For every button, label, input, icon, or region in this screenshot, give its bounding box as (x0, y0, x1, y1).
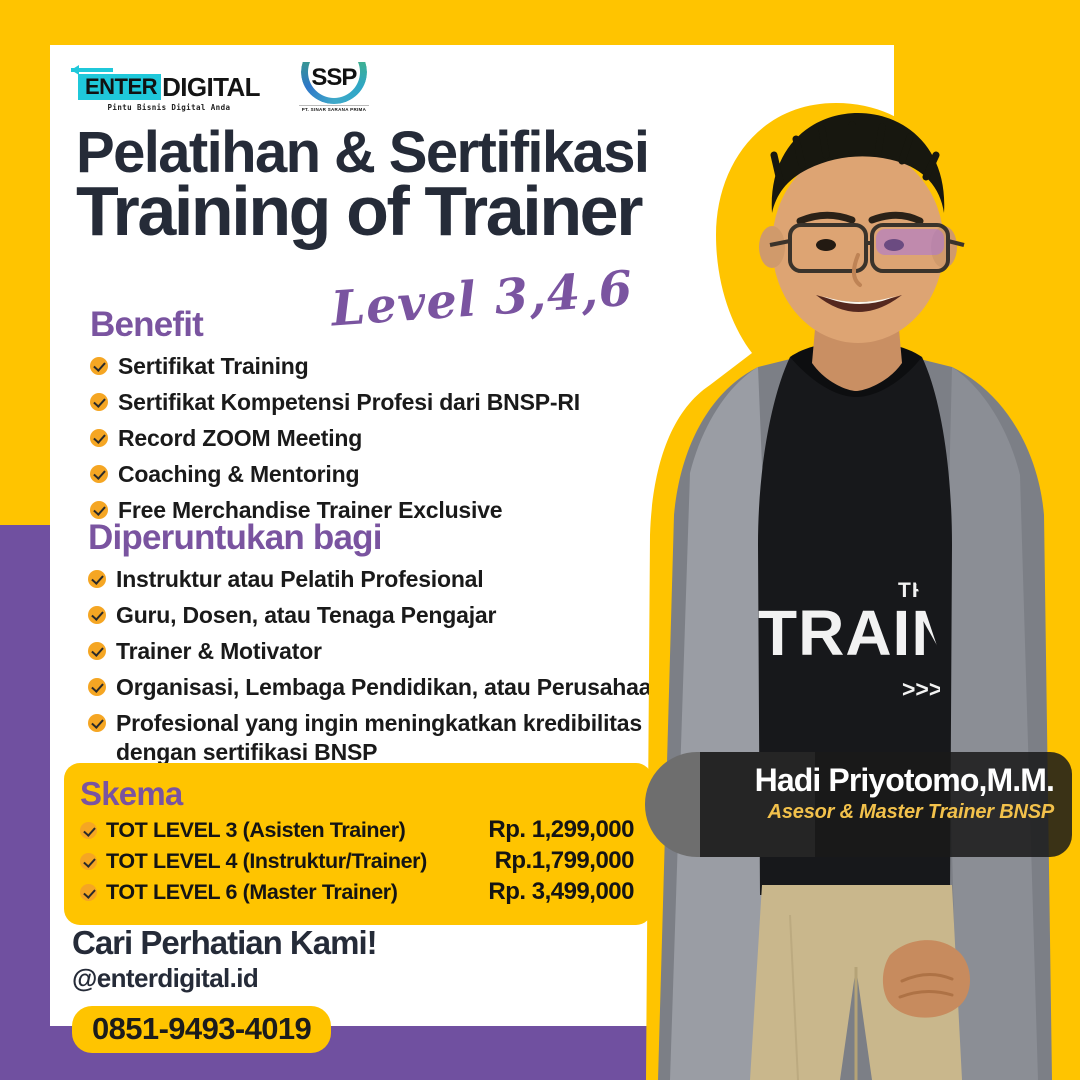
target-item-label: Instruktur atau Pelatih Profesional (116, 565, 483, 594)
skema-level-label: TOT LEVEL 3 (Asisten Trainer) (106, 818, 438, 843)
target-item-label: Guru, Dosen, atau Tenaga Pengajar (116, 601, 496, 630)
check-circle-icon (88, 678, 106, 696)
enter-digital-wordmark: ENTER DIGITAL (78, 74, 260, 100)
target-item-label: Profesional yang ingin meningkatkan kred… (116, 709, 676, 767)
digital-word: DIGITAL (162, 74, 260, 100)
presenter-photo: TRAINER TRAINING O >>> lv. 3 (640, 95, 1080, 1080)
benefit-item-label: Coaching & Mentoring (118, 460, 359, 489)
skema-level-label: TOT LEVEL 4 (Instruktur/Trainer) (106, 849, 438, 874)
check-circle-icon (88, 642, 106, 660)
target-title: Diperuntukan bagi (88, 520, 676, 555)
list-item: Sertifikat Training (90, 352, 580, 381)
check-circle-icon (80, 822, 97, 839)
check-circle-icon (88, 606, 106, 624)
poster-canvas: ENTER DIGITAL Pintu Bisnis Digital Anda … (0, 0, 1080, 1080)
skema-price: Rp. 3,499,000 (438, 878, 634, 906)
list-item: Trainer & Motivator (88, 637, 676, 666)
list-item: Profesional yang ingin meningkatkan kred… (88, 709, 676, 767)
ssp-company-name: PT. SINAR SARANA PRIMA (299, 105, 369, 112)
presenter-nameplate: Hadi Priyotomo,M.M. Asesor & Master Trai… (700, 752, 1072, 857)
check-circle-icon (90, 393, 108, 411)
benefit-title: Benefit (90, 307, 580, 342)
enter-digital-tagline: Pintu Bisnis Digital Anda (108, 103, 231, 112)
target-audience-section: Diperuntukan bagi Instruktur atau Pelati… (88, 520, 676, 774)
enter-badge: ENTER (78, 74, 161, 99)
list-item: Sertifikat Kompetensi Profesi dari BNSP-… (90, 388, 580, 417)
check-circle-icon (88, 714, 106, 732)
skema-title: Skema (80, 777, 634, 810)
table-row: TOT LEVEL 3 (Asisten Trainer) Rp. 1,299,… (80, 816, 634, 844)
presenter-name: Hadi Priyotomo,M.M. (700, 764, 1054, 798)
check-circle-icon (90, 357, 108, 375)
skema-level-label: TOT LEVEL 6 (Master Trainer) (106, 880, 438, 905)
check-circle-icon (80, 853, 97, 870)
ssp-wordmark: SSP (301, 64, 367, 92)
purple-left-band (0, 525, 50, 1080)
skema-panel: Skema TOT LEVEL 3 (Asisten Trainer) Rp. … (64, 763, 652, 925)
contact-section: Cari Perhatian Kami! @enterdigital.id 08… (72, 925, 377, 1053)
check-circle-icon (90, 429, 108, 447)
skema-price: Rp.1,799,000 (438, 847, 634, 875)
table-row: TOT LEVEL 6 (Master Trainer) Rp. 3,499,0… (80, 878, 634, 906)
target-item-label: Organisasi, Lembaga Pendidikan, atau Per… (116, 673, 665, 702)
table-row: TOT LEVEL 4 (Instruktur/Trainer) Rp.1,79… (80, 847, 634, 875)
logo-row: ENTER DIGITAL Pintu Bisnis Digital Anda … (78, 62, 374, 112)
benefit-item-label: Record ZOOM Meeting (118, 424, 362, 453)
check-circle-icon (90, 465, 108, 483)
list-item: Record ZOOM Meeting (90, 424, 580, 453)
check-circle-icon (90, 501, 108, 519)
target-list: Instruktur atau Pelatih Profesional Guru… (88, 565, 676, 767)
presenter-role: Asesor & Master Trainer BNSP (700, 801, 1054, 824)
ssp-logo: SSP PT. SINAR SARANA PRIMA (294, 62, 374, 112)
list-item: Guru, Dosen, atau Tenaga Pengajar (88, 601, 676, 630)
benefit-section: Benefit Sertifikat Training Sertifikat K… (90, 307, 580, 532)
list-item: Organisasi, Lembaga Pendidikan, atau Per… (88, 673, 676, 702)
benefit-list: Sertifikat Training Sertifikat Kompetens… (90, 352, 580, 525)
contact-heading: Cari Perhatian Kami! (72, 925, 377, 961)
enter-digital-logo: ENTER DIGITAL Pintu Bisnis Digital Anda (78, 74, 260, 112)
benefit-item-label: Sertifikat Training (118, 352, 308, 381)
skema-price: Rp. 1,299,000 (438, 816, 634, 844)
benefit-item-label: Sertifikat Kompetensi Profesi dari BNSP-… (118, 388, 580, 417)
list-item: Coaching & Mentoring (90, 460, 580, 489)
check-circle-icon (88, 570, 106, 588)
target-item-label: Trainer & Motivator (116, 637, 322, 666)
check-circle-icon (80, 884, 97, 901)
list-item: Instruktur atau Pelatih Profesional (88, 565, 676, 594)
instagram-handle[interactable]: @enterdigital.id (72, 963, 377, 994)
ssp-badge: SSP (301, 62, 367, 104)
phone-number-button[interactable]: 0851-9493-4019 (72, 1006, 331, 1053)
